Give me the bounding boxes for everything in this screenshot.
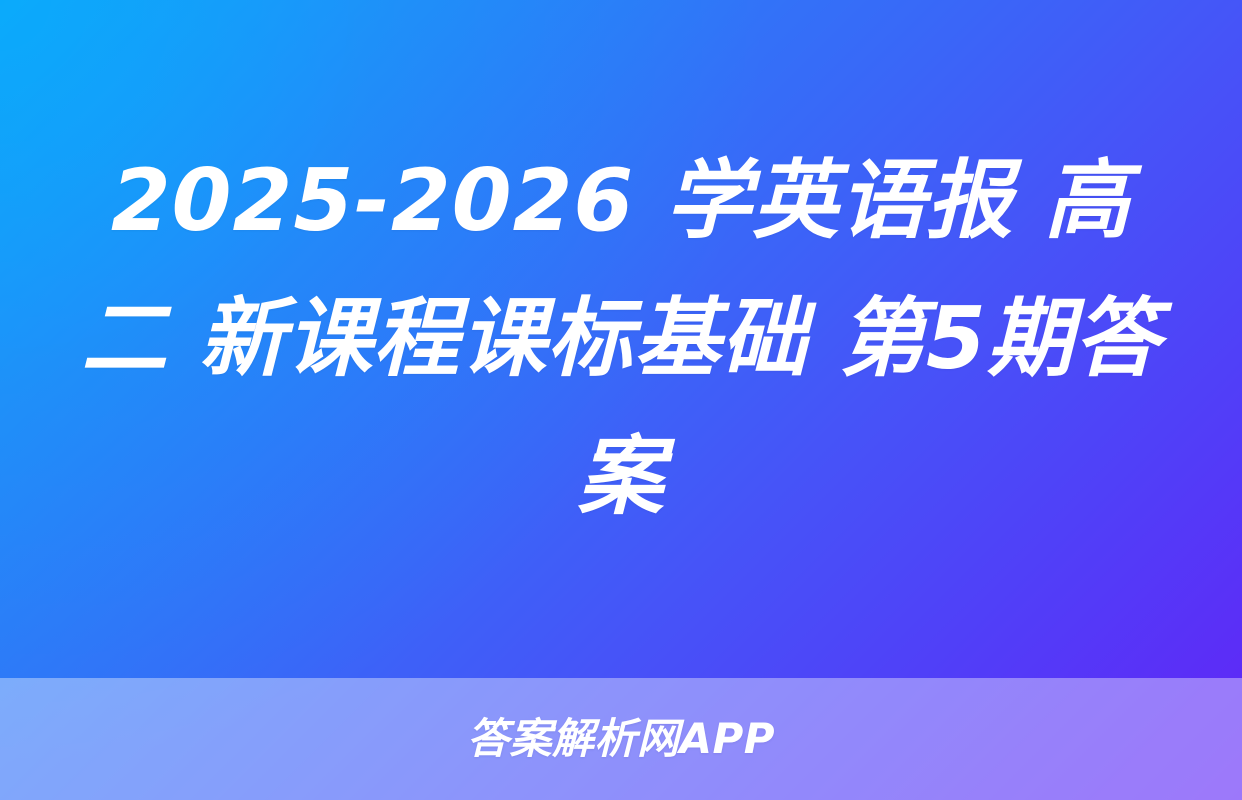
app-watermark-label: 答案解析网APP (467, 718, 775, 760)
headline-container: 2025-2026 学英语报 高二 新课程课标基础 第5期答案 (0, 0, 1242, 678)
poster-background: 2025-2026 学英语报 高二 新课程课标基础 第5期答案 答案解析网APP (0, 0, 1242, 800)
footer-watermark-band: 答案解析网APP (0, 678, 1242, 800)
page-title: 2025-2026 学英语报 高二 新课程课标基础 第5期答案 (71, 132, 1171, 546)
